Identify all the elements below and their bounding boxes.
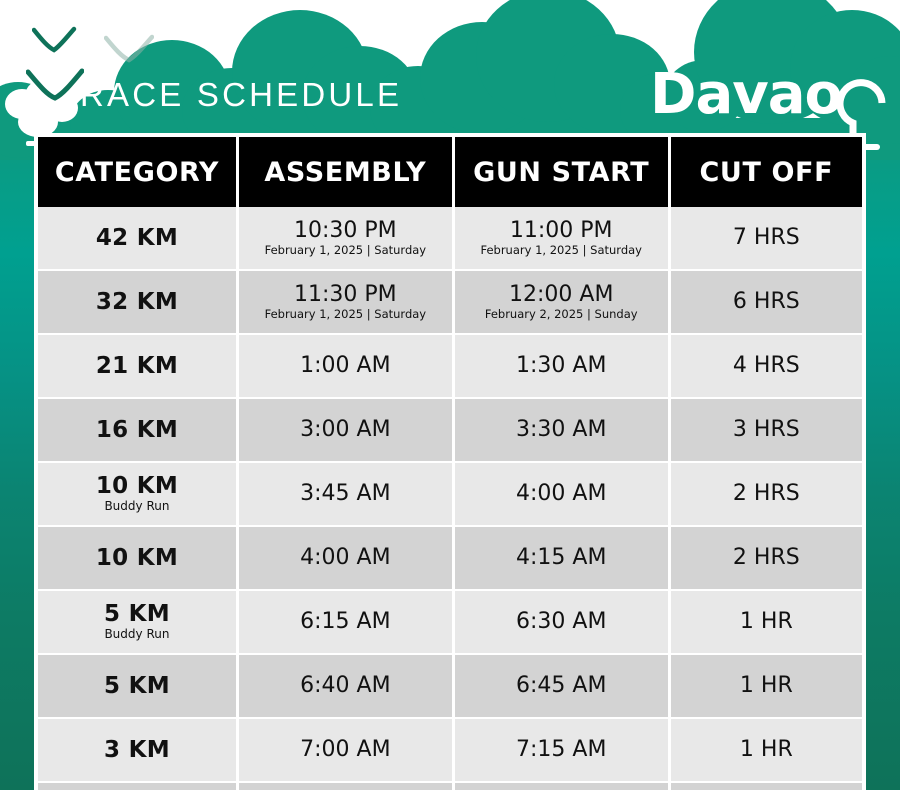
gun-start-time: 3:30 AM [457, 418, 666, 442]
cell-assembly: 6:40 AM [237, 654, 453, 718]
cell-cut-off: 3 HRS [669, 398, 862, 462]
cut-off-value: 1 HR [673, 674, 860, 698]
cell-assembly: 11:30 PM February 1, 2025 | Saturday [237, 270, 453, 334]
assembly-time: 6:15 AM [241, 610, 450, 634]
page-title: RACE SCHEDULE [80, 76, 402, 114]
gun-start-time: 4:00 AM [457, 482, 666, 506]
assembly-date: February 1, 2025 | Saturday [241, 244, 450, 258]
cell-cut-off: 2 HRS [669, 462, 862, 526]
table-row: 3 KM 7:00 AM 7:15 AM 1 HR [38, 718, 862, 782]
cell-category: 10 KM [38, 526, 237, 590]
cell-gun-start: 7:15 AM [453, 718, 669, 782]
category-label: 5 KM [40, 602, 234, 626]
table-row: 32 KM 11:30 PM February 1, 2025 | Saturd… [38, 270, 862, 334]
table-body: 42 KM 10:30 PM February 1, 2025 | Saturd… [38, 207, 862, 790]
cell-cut-off: 4 HRS [669, 334, 862, 398]
gun-start-time: 12:00 AM [457, 283, 666, 307]
cell-cut-off: 1 HR [669, 590, 862, 654]
cell-category: 32 KM [38, 270, 237, 334]
bird-icon [104, 34, 154, 66]
cell-assembly: 6:15 AM [237, 590, 453, 654]
cell-assembly: 7:20 AM [237, 782, 453, 790]
race-schedule-table: CATEGORY ASSEMBLY GUN START CUT OFF 42 K… [38, 137, 862, 790]
category-label: 3 KM [40, 738, 234, 762]
assembly-time: 3:00 AM [241, 418, 450, 442]
race-schedule-poster: RACE SCHEDULE Davao CATEGORY ASSEMBLY GU… [0, 0, 900, 790]
gun-start-date: February 2, 2025 | Sunday [457, 308, 666, 322]
table-row: 5 KM Buddy Run 6:15 AM 6:30 AM 1 HR [38, 590, 862, 654]
category-label: 10 KM [40, 546, 234, 570]
cell-gun-start: 6:45 AM [453, 654, 669, 718]
cell-gun-start: 7:30 AM [453, 782, 669, 790]
cell-gun-start: 3:30 AM [453, 398, 669, 462]
gun-start-time: 6:30 AM [457, 610, 666, 634]
cell-cut-off: 1 HR [669, 718, 862, 782]
cell-assembly: 10:30 PM February 1, 2025 | Saturday [237, 207, 453, 270]
category-label: 10 KM [40, 474, 234, 498]
table-row: 21 KM 1:00 AM 1:30 AM 4 HRS [38, 334, 862, 398]
table-row: 10 KM 4:00 AM 4:15 AM 2 HRS [38, 526, 862, 590]
assembly-time: 10:30 PM [241, 219, 450, 243]
cell-category: 5 KM [38, 654, 237, 718]
category-label: 42 KM [40, 226, 234, 250]
cut-off-value: 1 HR [673, 610, 860, 634]
category-label: 32 KM [40, 290, 234, 314]
column-header-cut-off: CUT OFF [669, 137, 862, 207]
cell-cut-off: 1 HR [669, 654, 862, 718]
category-sublabel: Buddy Run [40, 627, 234, 641]
cell-assembly: 3:00 AM [237, 398, 453, 462]
cell-category: 21 KM [38, 334, 237, 398]
column-header-assembly: ASSEMBLY [237, 137, 453, 207]
gun-start-date: February 1, 2025 | Saturday [457, 244, 666, 258]
assembly-date: February 1, 2025 | Saturday [241, 308, 450, 322]
table-row: 5 KM 6:40 AM 6:45 AM 1 HR [38, 654, 862, 718]
cut-off-value: 4 HRS [673, 354, 860, 378]
cell-cut-off: 6 HRS [669, 270, 862, 334]
cell-assembly: 4:00 AM [237, 526, 453, 590]
cell-category: 5 KM Buddy Run [38, 590, 237, 654]
gun-start-time: 4:15 AM [457, 546, 666, 570]
category-sublabel: Buddy Run [40, 499, 234, 513]
column-header-gun-start: GUN START [453, 137, 669, 207]
cell-gun-start: 4:15 AM [453, 526, 669, 590]
cell-cut-off: 2 HRS [669, 526, 862, 590]
cell-assembly: 7:00 AM [237, 718, 453, 782]
assembly-time: 6:40 AM [241, 674, 450, 698]
gun-start-time: 11:00 PM [457, 219, 666, 243]
assembly-time: 3:45 AM [241, 482, 450, 506]
bird-icon [32, 26, 78, 56]
cut-off-value: 2 HRS [673, 482, 860, 506]
cell-gun-start: 4:00 AM [453, 462, 669, 526]
table-row: 42 KM 10:30 PM February 1, 2025 | Saturd… [38, 207, 862, 270]
cell-cut-off: 7 HRS [669, 207, 862, 270]
davao-logo: Davao [650, 62, 842, 127]
cell-gun-start: 6:30 AM [453, 590, 669, 654]
column-header-category: CATEGORY [38, 137, 237, 207]
cell-gun-start: 12:00 AM February 2, 2025 | Sunday [453, 270, 669, 334]
cell-category: 711 M [38, 782, 237, 790]
table-row: 16 KM 3:00 AM 3:30 AM 3 HRS [38, 398, 862, 462]
cell-category: 3 KM [38, 718, 237, 782]
table-header-row: CATEGORY ASSEMBLY GUN START CUT OFF [38, 137, 862, 207]
assembly-time: 1:00 AM [241, 354, 450, 378]
gun-start-time: 1:30 AM [457, 354, 666, 378]
table-row: 10 KM Buddy Run 3:45 AM 4:00 AM 2 HRS [38, 462, 862, 526]
category-label: 21 KM [40, 354, 234, 378]
category-label: 5 KM [40, 674, 234, 698]
cut-off-value: 3 HRS [673, 418, 860, 442]
assembly-time: 4:00 AM [241, 546, 450, 570]
category-label: 16 KM [40, 418, 234, 442]
schedule-table-container: CATEGORY ASSEMBLY GUN START CUT OFF 42 K… [34, 133, 866, 790]
cut-off-value: 1 HR [673, 738, 860, 762]
cut-off-value: 2 HRS [673, 546, 860, 570]
cell-category: 42 KM [38, 207, 237, 270]
assembly-time: 7:00 AM [241, 738, 450, 762]
cell-assembly: 1:00 AM [237, 334, 453, 398]
cut-off-value: 6 HRS [673, 290, 860, 314]
cell-gun-start: 1:30 AM [453, 334, 669, 398]
cell-category: 16 KM [38, 398, 237, 462]
table-row: 711 M 7:20 AM 7:30 AM 15 MINS [38, 782, 862, 790]
gun-start-time: 6:45 AM [457, 674, 666, 698]
cell-cut-off: 15 MINS [669, 782, 862, 790]
assembly-time: 11:30 PM [241, 283, 450, 307]
gun-start-time: 7:15 AM [457, 738, 666, 762]
bird-icon [26, 68, 84, 104]
cut-off-value: 7 HRS [673, 226, 860, 250]
cell-category: 10 KM Buddy Run [38, 462, 237, 526]
cell-gun-start: 11:00 PM February 1, 2025 | Saturday [453, 207, 669, 270]
cell-assembly: 3:45 AM [237, 462, 453, 526]
